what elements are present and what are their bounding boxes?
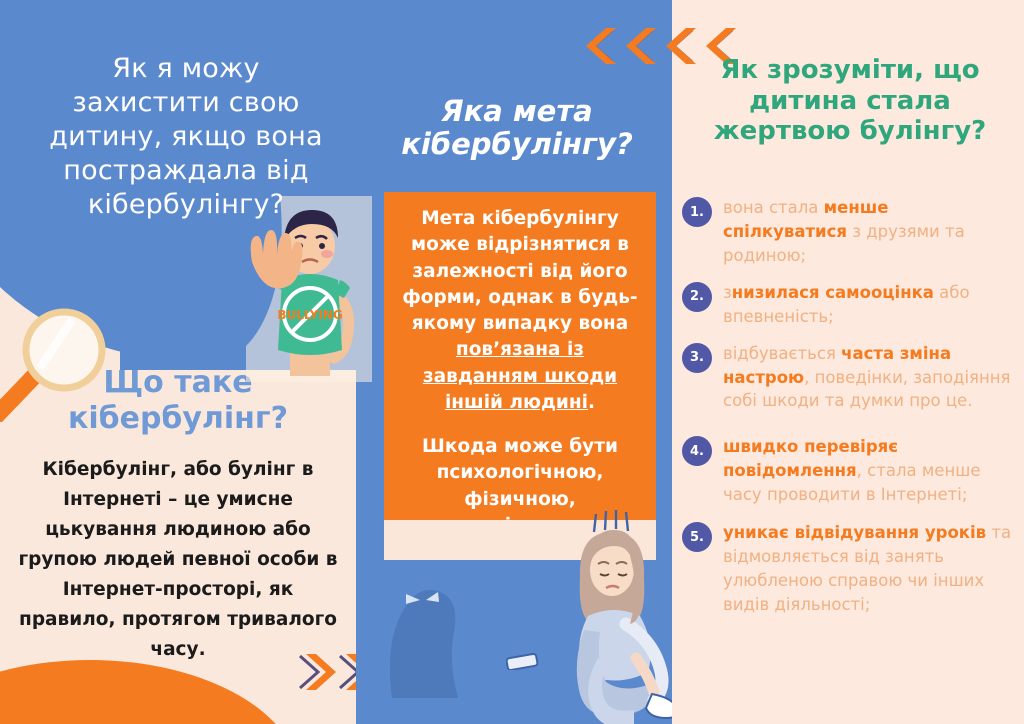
list-number-badge: 4. bbox=[682, 436, 712, 466]
mid-p1-pre: Мета кібербулінгу може відрізнятися в за… bbox=[402, 208, 637, 334]
list-item: 1. вона стала менше спілкуватися з друзя… bbox=[682, 196, 1018, 268]
symptoms-list: 1. вона стала менше спілкуватися з друзя… bbox=[682, 196, 1018, 630]
list-item: 2. знизилася самооцінка або впевненість; bbox=[682, 281, 1018, 329]
list-item-text: уникає відвідування уроків та відмовляєт… bbox=[723, 521, 1018, 617]
list-item: 3. відбувається часта зміна настрою, пов… bbox=[682, 342, 1018, 414]
list-item-text: відбувається часта зміна настрою, поведі… bbox=[723, 342, 1018, 414]
sad-girl-sitting-illustration bbox=[540, 508, 690, 724]
shadow-monster-illustration bbox=[372, 548, 482, 698]
list-item: 4. швидко перевіряє повідомлення, стала … bbox=[682, 435, 1018, 507]
boy-shirt-label: BULLYING bbox=[277, 308, 342, 322]
middle-panel-orange-box: Мета кібербулінгу може відрізнятися в за… bbox=[384, 192, 656, 520]
list-item: 5. уникає відвідування уроків та відмовл… bbox=[682, 521, 1018, 617]
left-panel-body: Кібербулінг, або булінг в Інтернеті – це… bbox=[18, 455, 338, 665]
middle-panel-paragraph-1: Мета кібербулінгу може відрізнятися в за… bbox=[396, 206, 644, 416]
brochure-canvas: Як я можу захистити свою дитину, якщо во… bbox=[0, 0, 1024, 724]
middle-panel-heading: Яка мета кібербулінгу? bbox=[372, 95, 662, 162]
list-item-text: знизилася самооцінка або впевненість; bbox=[723, 281, 1018, 329]
list-item-text: вона стала менше спілкуватися з друзями … bbox=[723, 196, 1018, 268]
list-number-badge: 1. bbox=[682, 197, 712, 227]
smartphone-on-floor-icon bbox=[506, 652, 540, 670]
boy-stop-gesture-illustration: BULLYING bbox=[246, 196, 372, 382]
list-number-badge: 3. bbox=[682, 343, 712, 373]
right-panel-heading: Як зрозуміти, що дитина стала жертвою бу… bbox=[690, 55, 1010, 147]
list-number-badge: 5. bbox=[682, 522, 712, 552]
mid-p1-end: . bbox=[588, 392, 595, 413]
list-number-badge: 2. bbox=[682, 282, 712, 312]
orange-bottom-arc bbox=[0, 660, 300, 724]
list-item-text: швидко перевіряє повідомлення, стала мен… bbox=[723, 435, 1018, 507]
